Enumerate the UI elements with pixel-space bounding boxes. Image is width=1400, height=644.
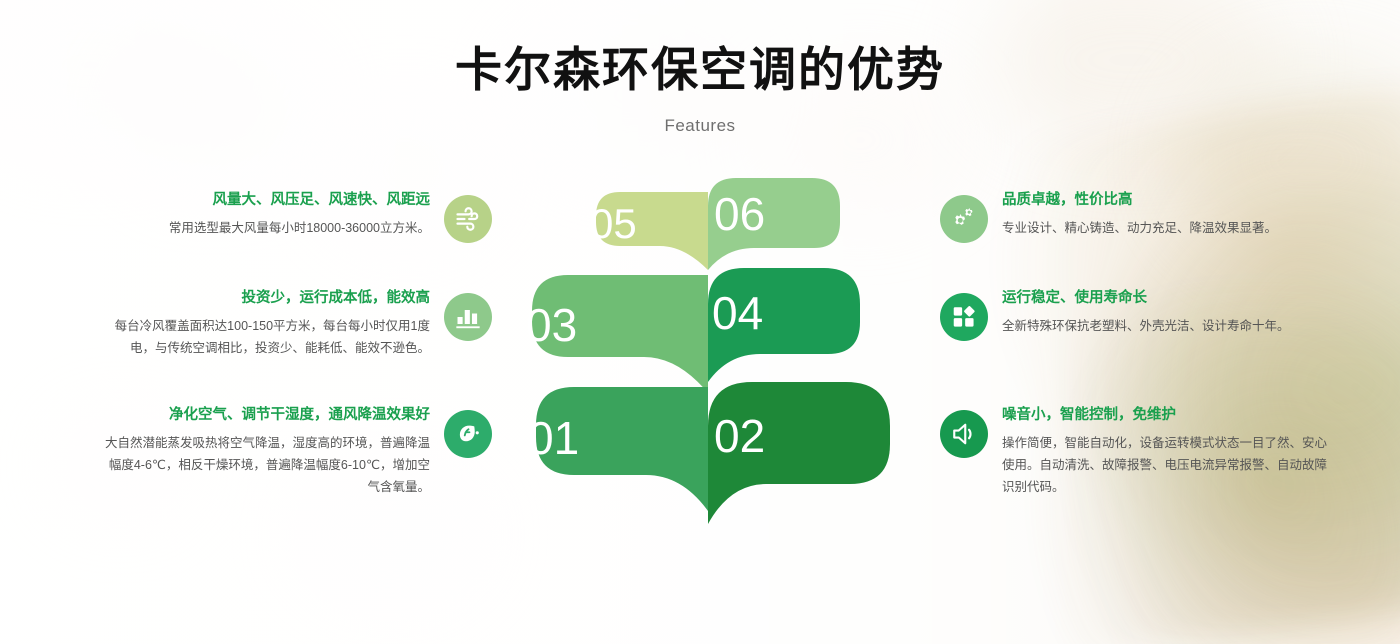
leaf-04[interactable]: 04 bbox=[708, 268, 860, 382]
leaf-05[interactable]: 05 bbox=[596, 192, 708, 270]
header: 卡尔森环保空调的优势 Features bbox=[0, 0, 1400, 136]
feature-title: 投资少，运行成本低，能效高 bbox=[100, 288, 430, 310]
feature-description: 常用选型最大风量每小时18000-36000立方米。 bbox=[100, 218, 430, 240]
leaf-number: 05 bbox=[590, 203, 637, 245]
wind-icon bbox=[444, 195, 492, 243]
slide-canvas: 卡尔森环保空调的优势 Features 风量大、风压足、风速快、风距远 常用选型… bbox=[0, 0, 1400, 644]
feature-title: 风量大、风压足、风速快、风距远 bbox=[100, 190, 430, 212]
leaf-01[interactable]: 01 bbox=[536, 387, 708, 511]
leaf-number: 06 bbox=[714, 191, 765, 237]
leaf-number: 02 bbox=[714, 413, 765, 459]
feature-description: 大自然潜能蒸发吸热将空气降温，湿度高的环境，普遍降温幅度4-6℃，相反干燥环境，… bbox=[100, 433, 430, 499]
feature-title: 运行稳定、使用寿命长 bbox=[1002, 288, 1332, 310]
leaf-02[interactable]: 02 bbox=[708, 382, 890, 524]
page-subtitle: Features bbox=[0, 116, 1400, 136]
leaf-number: 01 bbox=[528, 415, 579, 461]
leaf-06[interactable]: 06 bbox=[708, 178, 840, 270]
feature-05[interactable]: 风量大、风压足、风速快、风距远 常用选型最大风量每小时18000-36000立方… bbox=[100, 190, 492, 243]
feature-description: 操作简便，智能自动化，设备运转模式状态一目了然、安心使用。自动清洗、故障报警、电… bbox=[1002, 433, 1332, 499]
blocks-icon bbox=[940, 293, 988, 341]
bar-chart-icon bbox=[444, 293, 492, 341]
page-title: 卡尔森环保空调的优势 bbox=[0, 44, 1400, 96]
feature-02[interactable]: 噪音小，智能控制，免维护 操作简便，智能自动化，设备运转模式状态一目了然、安心使… bbox=[940, 405, 1332, 498]
feature-description: 全新特殊环保抗老塑料、外壳光洁、设计寿命十年。 bbox=[1002, 316, 1332, 338]
leaf-icon bbox=[444, 410, 492, 458]
feature-title: 品质卓越，性价比高 bbox=[1002, 190, 1332, 212]
feature-description: 专业设计、精心铸造、动力充足、降温效果显著。 bbox=[1002, 218, 1332, 240]
leaf-03[interactable]: 03 bbox=[532, 275, 708, 393]
leaf-number: 03 bbox=[526, 302, 577, 348]
gears-icon bbox=[940, 195, 988, 243]
feature-01[interactable]: 净化空气、调节干湿度，通风降温效果好 大自然潜能蒸发吸热将空气降温，湿度高的环境… bbox=[100, 405, 492, 498]
leaf-number: 04 bbox=[712, 290, 763, 336]
feature-title: 噪音小，智能控制，免维护 bbox=[1002, 405, 1332, 427]
feature-06[interactable]: 品质卓越，性价比高 专业设计、精心铸造、动力充足、降温效果显著。 bbox=[940, 190, 1332, 243]
feature-title: 净化空气、调节干湿度，通风降温效果好 bbox=[100, 405, 430, 427]
feature-description: 每台冷风覆盖面积达100-150平方米，每台每小时仅用1度电，与传统空调相比，投… bbox=[100, 316, 430, 360]
speaker-icon bbox=[940, 410, 988, 458]
feature-03[interactable]: 投资少，运行成本低，能效高 每台冷风覆盖面积达100-150平方米，每台每小时仅… bbox=[100, 288, 492, 360]
feature-04[interactable]: 运行稳定、使用寿命长 全新特殊环保抗老塑料、外壳光洁、设计寿命十年。 bbox=[940, 288, 1332, 341]
corner-texture bbox=[906, 86, 1400, 644]
